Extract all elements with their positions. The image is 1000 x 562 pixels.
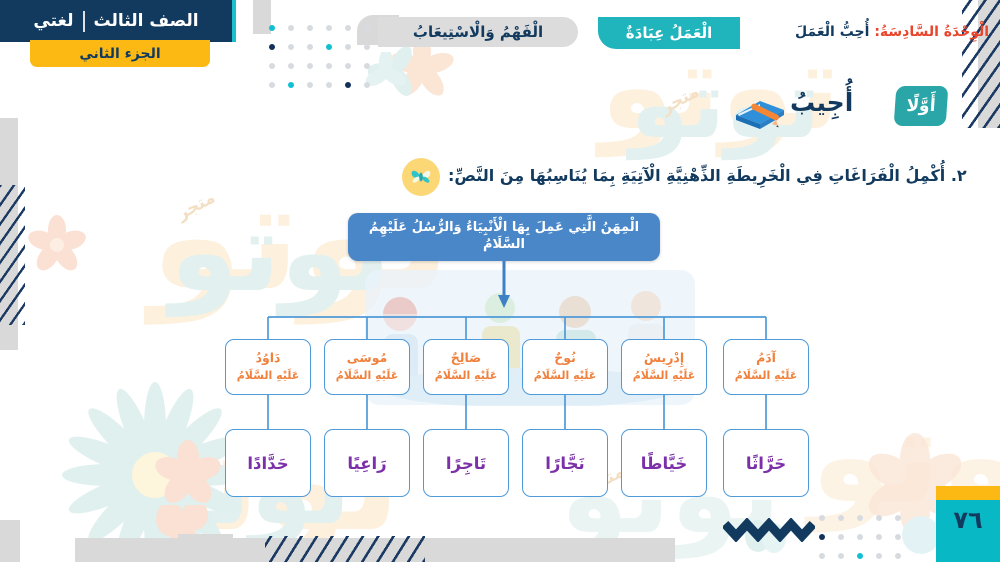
job-label: رَاعِيًا <box>347 454 386 473</box>
mindmap-prophet-node: آدَمُ عَلَيْهِ السَّلَامُ <box>723 339 809 395</box>
page-number: ٧٦ <box>936 506 1000 534</box>
job-label: تَاجِرًا <box>446 454 486 473</box>
mindmap-prophet-node: إِدْرِيسُ عَلَيْهِ السَّلَامُ <box>621 339 707 395</box>
prophet-name: آدَمُ <box>756 349 776 368</box>
prophet-name: صَالِحٌ <box>451 349 481 368</box>
prophet-name: إِدْرِيسُ <box>644 349 684 368</box>
job-label: خَيَّاطًا <box>641 454 688 473</box>
worksheet-page: توتو توتو توتو توتو توتو توتو توتو توتو … <box>0 0 1000 562</box>
prophet-name: دَاوُدُ <box>256 349 281 368</box>
job-label: نَجَّارًا <box>545 454 584 473</box>
prophet-salutation: عَلَيْهِ السَّلَامُ <box>336 368 399 385</box>
mindmap-prophet-node: مُوسَى عَلَيْهِ السَّلَامُ <box>324 339 410 395</box>
mindmap-job-node: نَجَّارًا <box>522 429 608 497</box>
mindmap-prophet-node: نُوحٌ عَلَيْهِ السَّلَامُ <box>522 339 608 395</box>
prophet-name: مُوسَى <box>347 349 388 368</box>
mindmap-job-node: حَرَّاثًا <box>723 429 809 497</box>
mindmap-prophet-node: صَالِحٌ عَلَيْهِ السَّلَامُ <box>423 339 509 395</box>
job-label: حَرَّاثًا <box>746 454 786 473</box>
prophet-salutation: عَلَيْهِ السَّلَامُ <box>237 368 300 385</box>
mindmap-job-node: رَاعِيًا <box>324 429 410 497</box>
job-label: حَدَّادًا <box>247 454 288 473</box>
prophet-salutation: عَلَيْهِ السَّلَامُ <box>633 368 696 385</box>
page-number-accent <box>936 486 1000 500</box>
prophet-salutation: عَلَيْهِ السَّلَامُ <box>435 368 498 385</box>
prophet-salutation: عَلَيْهِ السَّلَامُ <box>735 368 798 385</box>
mindmap-job-node: خَيَّاطًا <box>621 429 707 497</box>
mindmap-job-node: تَاجِرًا <box>423 429 509 497</box>
mindmap-prophet-node: دَاوُدُ عَلَيْهِ السَّلَامُ <box>225 339 311 395</box>
page-circle-decoration <box>902 516 940 554</box>
prophet-salutation: عَلَيْهِ السَّلَامُ <box>534 368 597 385</box>
prophet-name: نُوحٌ <box>554 349 576 368</box>
mindmap-job-node: حَدَّادًا <box>225 429 311 497</box>
